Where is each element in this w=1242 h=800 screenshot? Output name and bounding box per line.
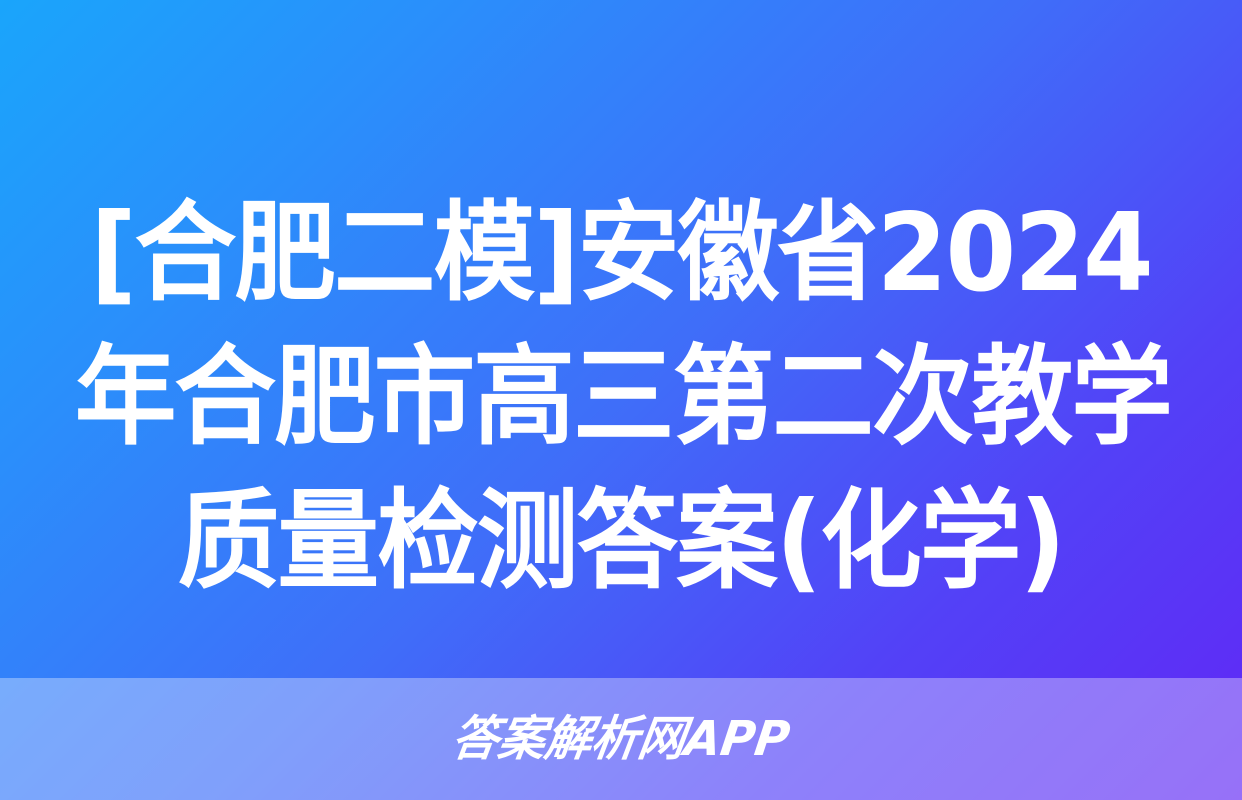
poster-canvas: [合肥二模]安徽省2024 年合肥市高三第二次教学 质量检测答案(化学) 答案解… [0,0,1242,800]
app-watermark-label: 答案解析网APP [449,715,793,763]
footer-watermark-band: 答案解析网APP [0,678,1242,800]
title-line-2: 年合肥市高三第二次教学 [75,326,1167,470]
title-line-1: [合肥二模]安徽省2024 [75,182,1167,326]
title-line-3: 质量检测答案(化学) [75,470,1167,614]
page-title: [合肥二模]安徽省2024 年合肥市高三第二次教学 质量检测答案(化学) [0,182,1242,614]
